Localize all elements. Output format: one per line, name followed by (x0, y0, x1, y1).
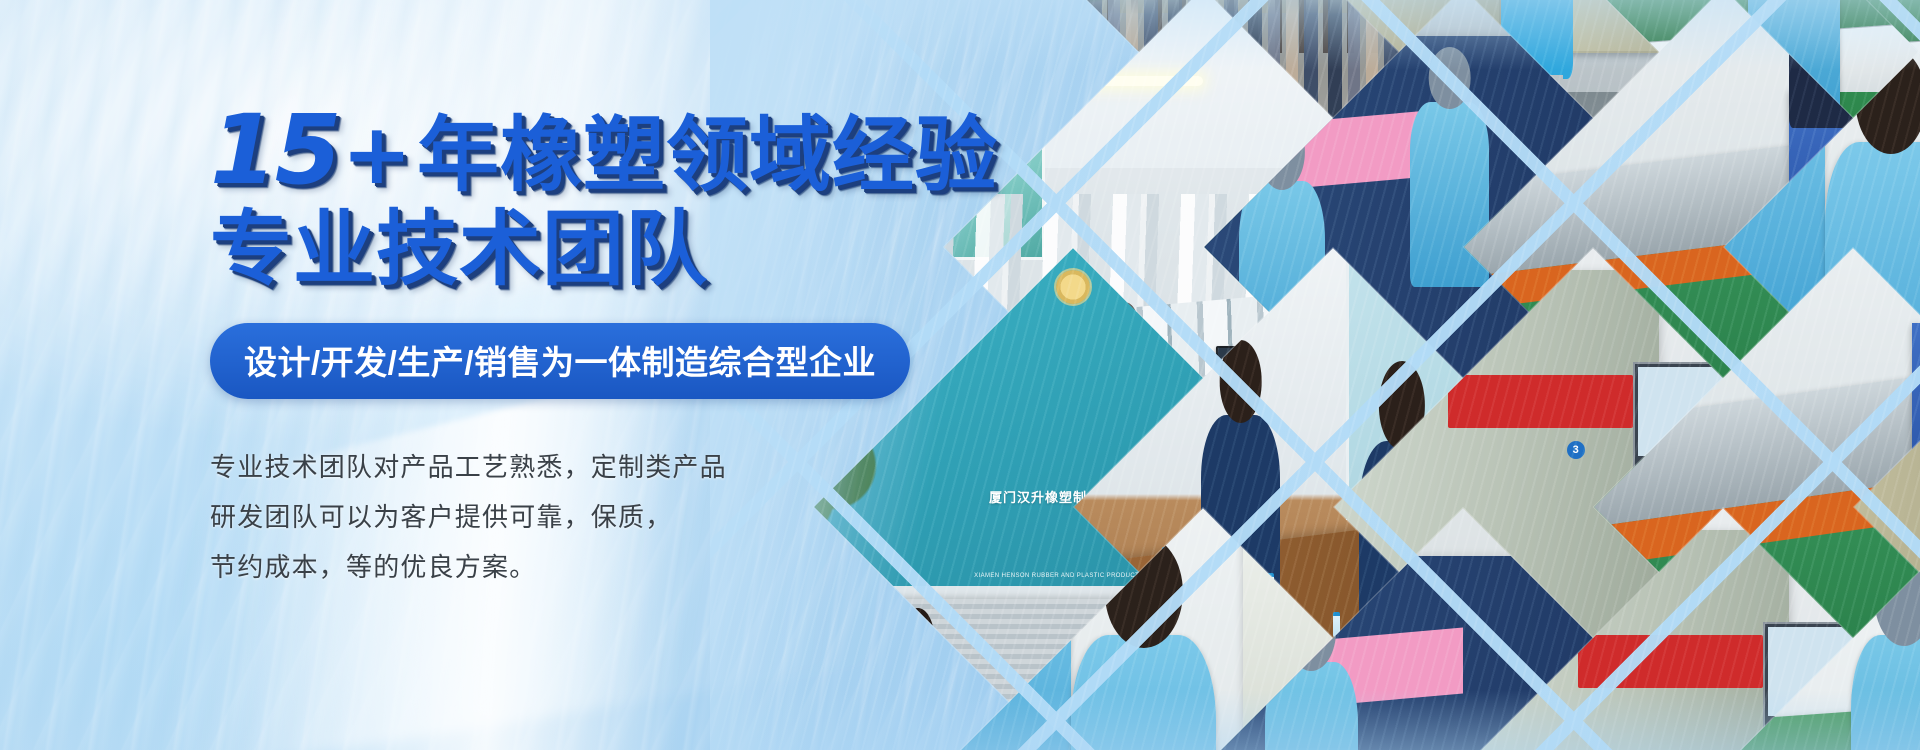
body-line-3: 节约成本，等的优良方案。 (210, 543, 990, 593)
tagline-pill: 设计/开发/生产/销售为一体制造综合型企业 (210, 323, 910, 399)
banner-content: 15+年橡塑领域经验 专业技术团队 设计/开发/生产/销售为一体制造综合型企业 … (210, 96, 990, 593)
body-line-1: 专业技术团队对产品工艺熟悉，定制类产品 (210, 443, 990, 493)
company-logo-mark (1056, 270, 1090, 304)
cnc-station-number: 3 (1567, 441, 1585, 459)
promo-banner: 厦门汉升橡塑制品有限公司 XIAMEN HENSON RUBBER AND PL… (0, 0, 1920, 750)
headline-line-2: 专业技术团队 (210, 204, 990, 297)
plus-sign: + (342, 105, 417, 203)
body-line-2: 研发团队可以为客户提供可靠，保质， (210, 493, 990, 543)
body-copy: 专业技术团队对产品工艺熟悉，定制类产品 研发团队可以为客户提供可靠，保质， 节约… (210, 443, 990, 593)
headline-line-1-text: 年橡塑领域经验 (417, 108, 998, 203)
years-number: 15 (210, 94, 342, 206)
headline-line-1: 15+年橡塑领域经验 (210, 96, 990, 204)
